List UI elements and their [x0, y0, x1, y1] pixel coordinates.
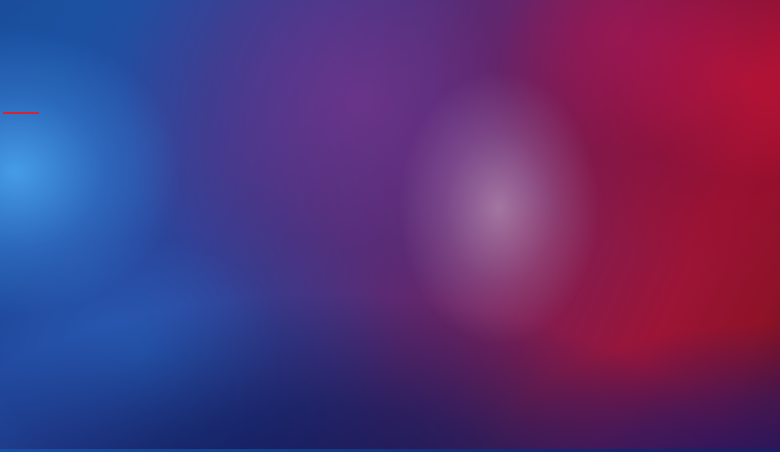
accent-bar: [3, 112, 39, 114]
promo-banner: [0, 0, 780, 452]
copy-block: [2, 112, 422, 140]
light-streaks: [0, 0, 780, 452]
